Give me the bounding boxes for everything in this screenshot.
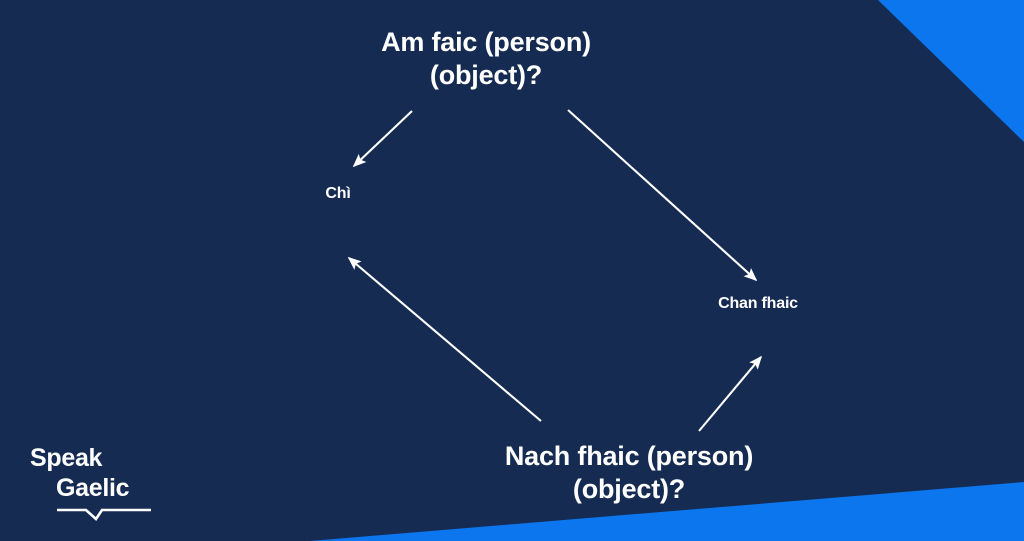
logo-line-gaelic: Gaelic [30,474,180,504]
slide-canvas: Am faic (person) (object)? Chì Chan fhai… [0,0,1024,541]
node-answer-positive: Chì [268,184,408,204]
speakgaelic-logo: Speak Gaelic [30,444,180,522]
speech-bubble-underline-icon [56,508,152,522]
node-answer-negative: Chan fhaic [668,294,848,314]
node-question-negative: Nach fhaic (person) (object)? [440,440,818,506]
logo-line-speak: Speak [30,444,180,474]
node-question-affirmative: Am faic (person) (object)? [296,26,676,92]
